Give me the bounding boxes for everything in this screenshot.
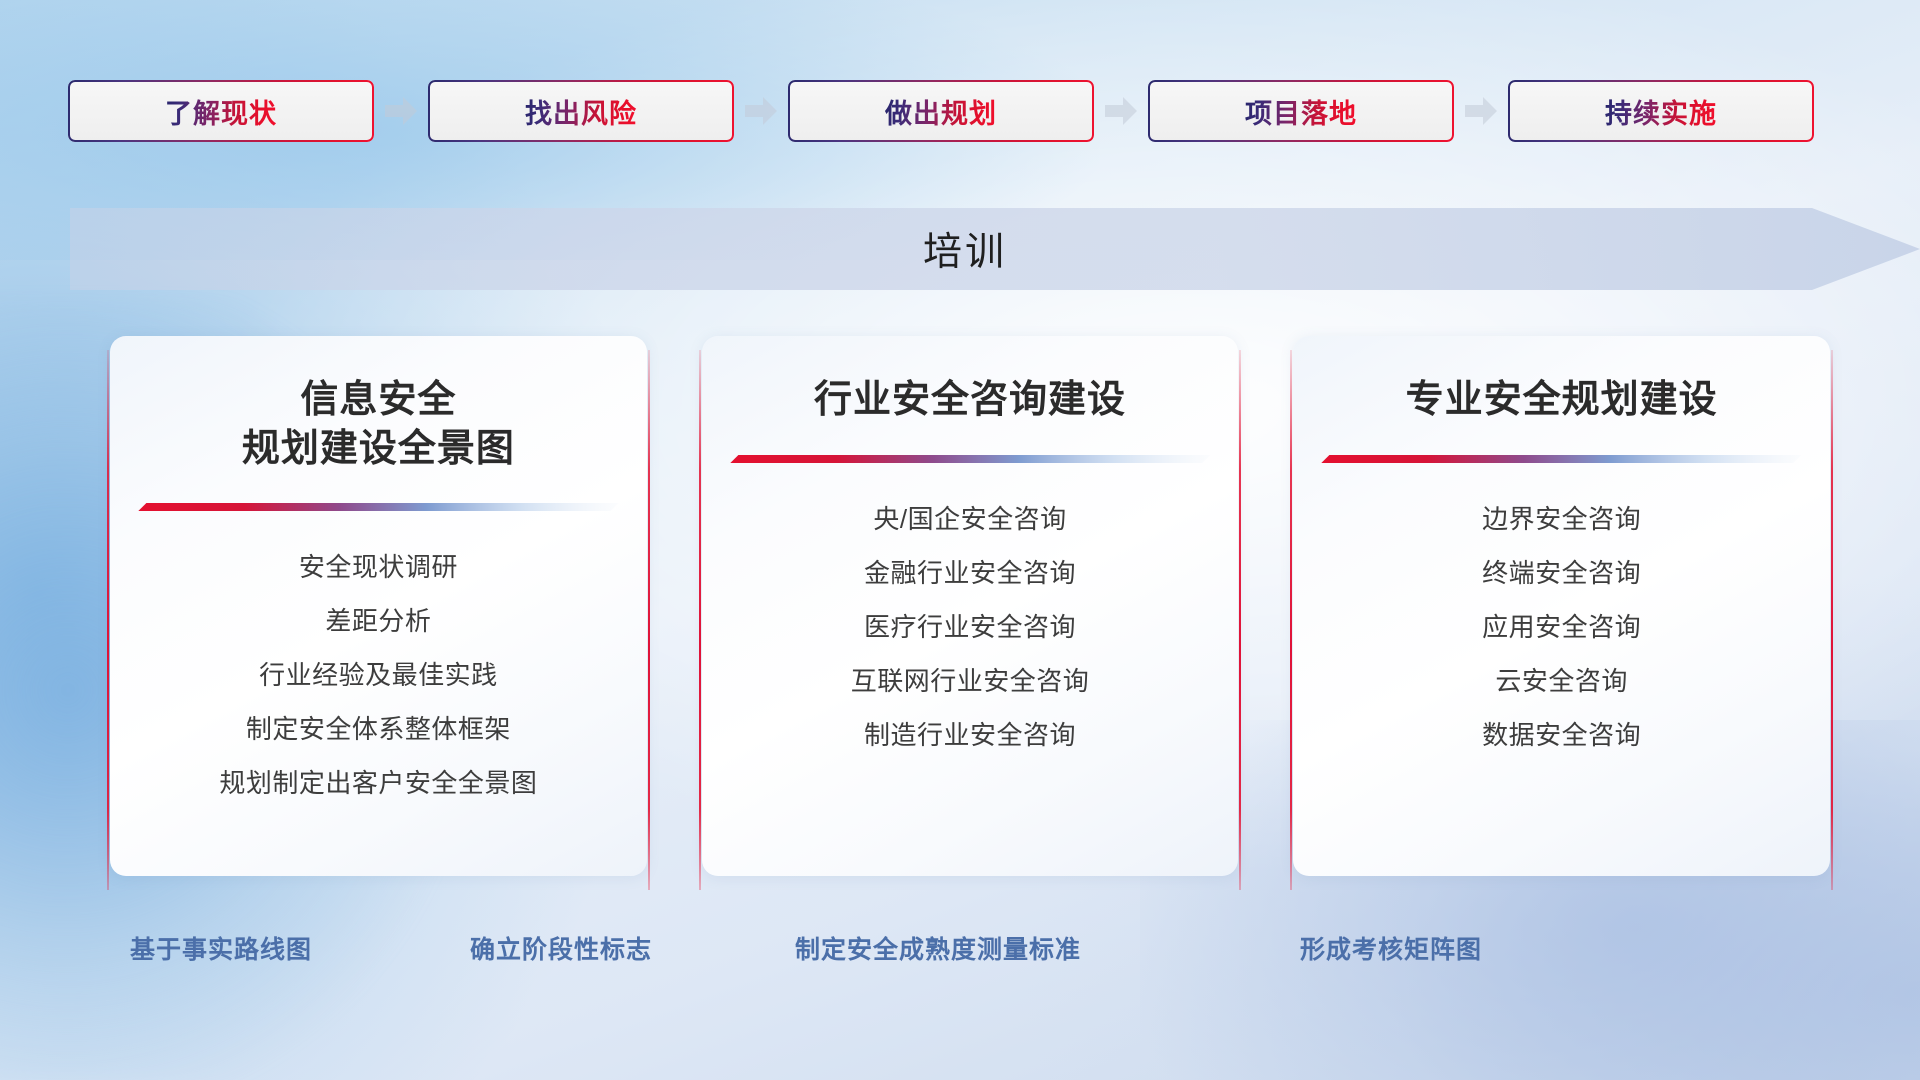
list-item: 差距分析 xyxy=(325,601,431,638)
process-step-1[interactable]: 了解现状 xyxy=(68,80,374,142)
list-item: 行业经验及最佳实践 xyxy=(259,655,498,692)
card-title: 行业安全咨询建设 xyxy=(814,376,1126,425)
list-item: 边界安全咨询 xyxy=(1482,499,1641,536)
process-step-3[interactable]: 做出规划 xyxy=(788,80,1094,142)
process-step-label: 做出规划 xyxy=(885,92,997,131)
capability-card-3[interactable]: 专业安全规划建设 xyxy=(1293,336,1830,876)
process-step-2[interactable]: 找出风险 xyxy=(428,80,734,142)
list-item: 安全现状调研 xyxy=(299,547,458,584)
process-step-label: 持续实施 xyxy=(1605,92,1717,131)
footer-label-4: 形成考核矩阵图 xyxy=(1300,930,1482,966)
list-item: 制定安全体系整体框架 xyxy=(246,709,511,746)
training-banner: 培训 xyxy=(70,208,1920,290)
card-item-list: 央/国企安全咨询 金融行业安全咨询 医疗行业安全咨询 互联网行业安全咨询 制造行… xyxy=(851,499,1090,752)
process-step-label: 项目落地 xyxy=(1245,92,1357,131)
chevron-right-icon xyxy=(744,96,778,126)
card-title: 信息安全 规划建设全景图 xyxy=(242,376,515,473)
process-step-label: 找出风险 xyxy=(525,92,637,131)
card-title: 专业安全规划建设 xyxy=(1406,376,1718,425)
process-step-label: 了解现状 xyxy=(165,92,277,131)
footer-label-row: 基于事实路线图 确立阶段性标志 制定安全成熟度测量标准 形成考核矩阵图 xyxy=(0,930,1920,980)
card-divider xyxy=(136,499,621,513)
footer-label-1: 基于事实路线图 xyxy=(130,930,312,966)
list-item: 医疗行业安全咨询 xyxy=(864,607,1076,644)
list-item: 规划制定出客户安全全景图 xyxy=(219,763,537,800)
list-item: 互联网行业安全咨询 xyxy=(851,661,1090,698)
footer-label-3: 制定安全成熟度测量标准 xyxy=(795,930,1081,966)
card-divider xyxy=(728,451,1213,465)
capability-card-row: 信息安全 规划建设全景图 xyxy=(110,336,1830,876)
process-step-4[interactable]: 项目落地 xyxy=(1148,80,1454,142)
list-item: 数据安全咨询 xyxy=(1482,715,1641,752)
list-item: 金融行业安全咨询 xyxy=(864,553,1076,590)
list-item: 云安全咨询 xyxy=(1495,661,1628,698)
capability-card-1[interactable]: 信息安全 规划建设全景图 xyxy=(110,336,647,876)
chevron-right-icon xyxy=(1104,96,1138,126)
chevron-right-icon xyxy=(384,96,418,126)
process-step-5[interactable]: 持续实施 xyxy=(1508,80,1814,142)
process-step-row: 了解现状 找出风险 做出规划 项目落地 xyxy=(68,80,1854,142)
list-item: 应用安全咨询 xyxy=(1482,607,1641,644)
capability-card-2[interactable]: 行业安全咨询建设 xyxy=(702,336,1239,876)
card-item-list: 安全现状调研 差距分析 行业经验及最佳实践 制定安全体系整体框架 规划制定出客户… xyxy=(219,547,537,800)
list-item: 央/国企安全咨询 xyxy=(873,499,1066,536)
training-banner-label: 培训 xyxy=(70,208,1860,290)
slide-canvas: 了解现状 找出风险 做出规划 项目落地 xyxy=(0,0,1920,1080)
list-item: 制造行业安全咨询 xyxy=(864,715,1076,752)
list-item: 终端安全咨询 xyxy=(1482,553,1641,590)
footer-label-2: 确立阶段性标志 xyxy=(470,930,652,966)
chevron-right-icon xyxy=(1464,96,1498,126)
card-item-list: 边界安全咨询 终端安全咨询 应用安全咨询 云安全咨询 数据安全咨询 xyxy=(1482,499,1641,752)
card-divider xyxy=(1319,451,1804,465)
